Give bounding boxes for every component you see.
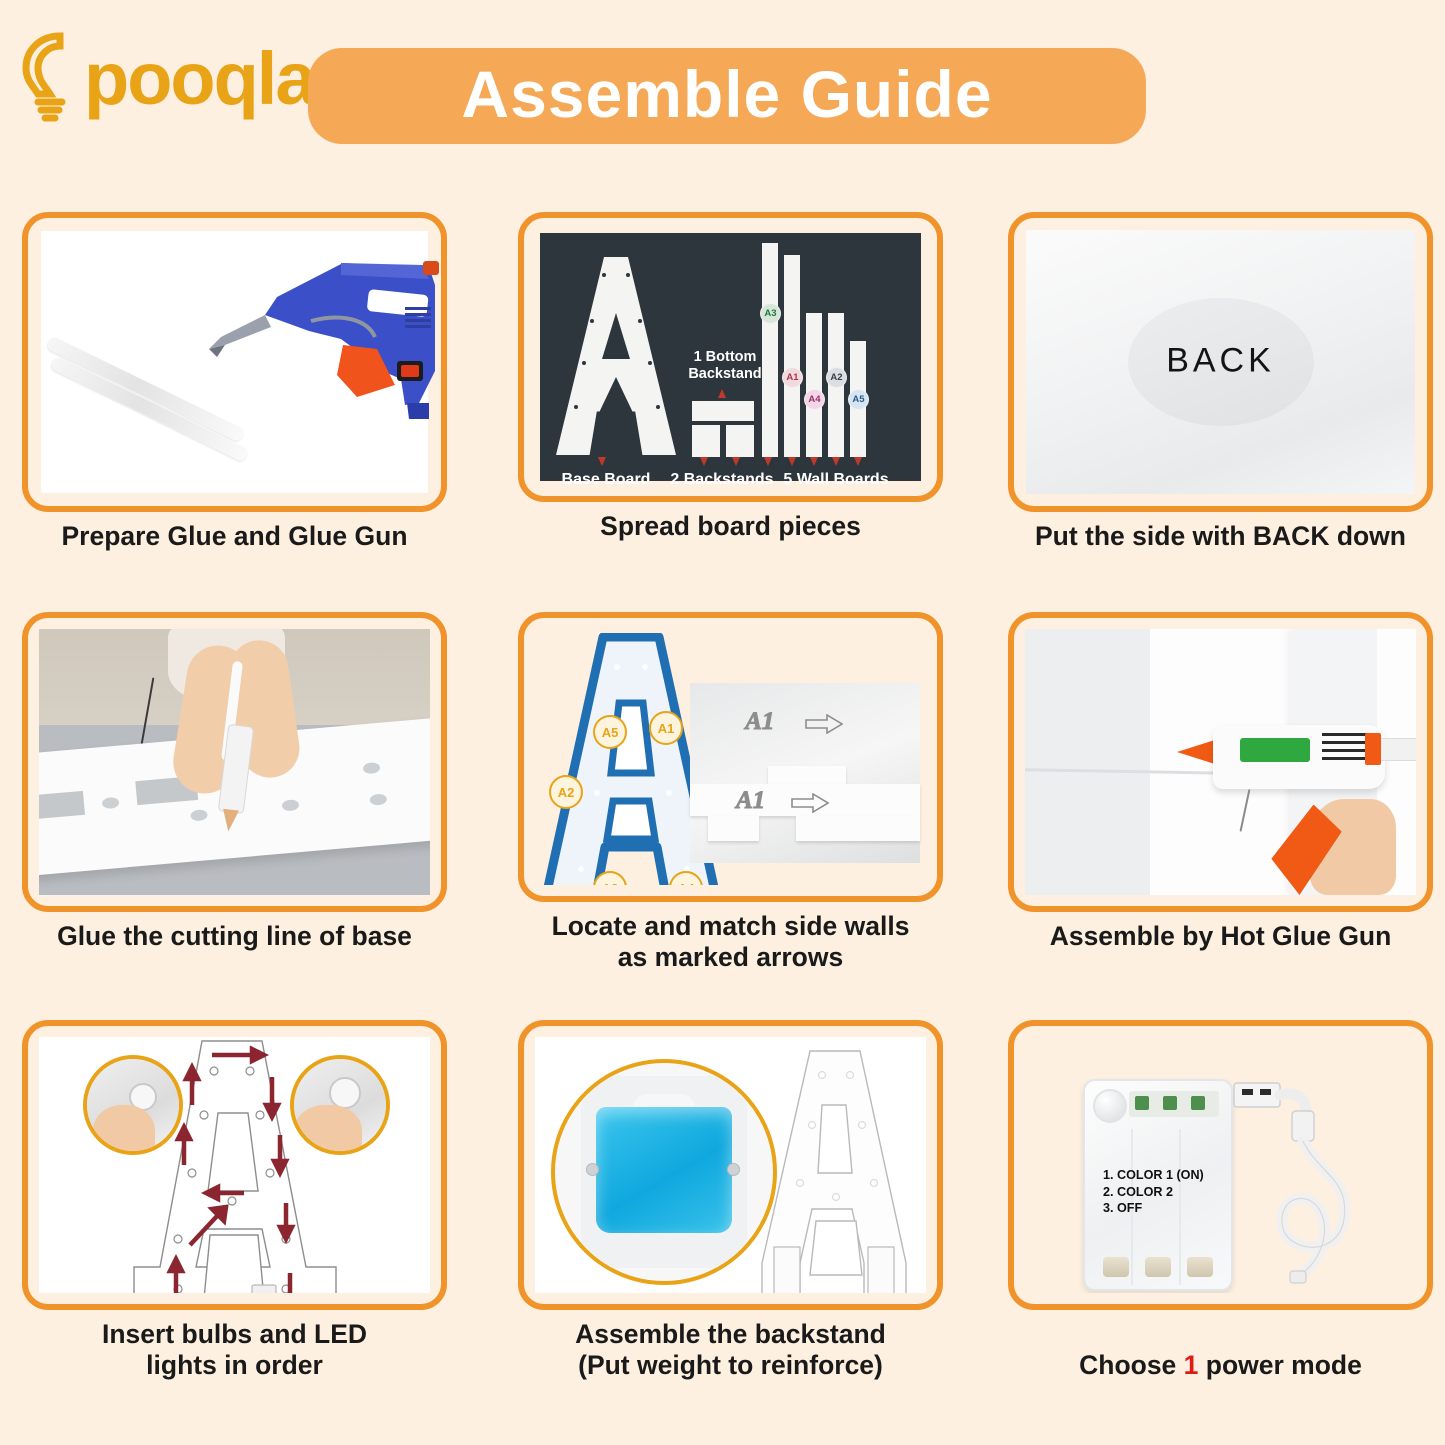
step-5-caption: Locate and match side walls as marked ar… (518, 911, 943, 974)
back-sheet: BACK (1026, 230, 1415, 494)
letter-a-backstand-outline (756, 1049, 916, 1293)
step-5-image: A5 A1 A2 A3 A4 A1 A1 (518, 612, 943, 902)
step-8-caption: Assemble the backstand (Put weight to re… (518, 1319, 943, 1382)
step-9-caption-highlight: 1 (1184, 1350, 1199, 1380)
pointer-arrow-icon (732, 457, 740, 466)
badge-a5: A5 (593, 715, 627, 749)
steps-grid: Prepare Glue and Glue Gun (0, 178, 1445, 1445)
wall-board-a1 (784, 255, 800, 457)
step-4-caption: Glue the cutting line of base (22, 921, 447, 952)
step-card-9: 1. COLOR 1 (ON) 2. COLOR 2 3. OFF (1008, 1020, 1433, 1382)
step-card-8: Assemble the backstand (Put weight to re… (518, 1020, 943, 1382)
board-pieces-diagram: A3 A1 A2 A4 A5 1 Bottom Backstand Base B… (540, 233, 921, 481)
water-bag-weight (596, 1107, 731, 1233)
pointer-arrow-icon (764, 457, 772, 466)
step-9-caption: Choose 1 power mode (1008, 1319, 1433, 1382)
step-8-image (518, 1020, 943, 1310)
brand-logo: pooqla (18, 22, 288, 134)
label-5-wall-boards: 5 Wall Boards (778, 471, 894, 489)
badge-a2: A2 (549, 775, 583, 809)
badge-a1: A1 (649, 711, 683, 745)
step-3-caption: Put the side with BACK down (1008, 521, 1433, 552)
rod-cap-icon (1365, 733, 1381, 765)
step-card-6: Assemble by Hot Glue Gun (1008, 612, 1433, 952)
backstand-shape (726, 425, 754, 457)
arrow-right-icon (791, 793, 829, 813)
side-wall-photo: A1 A1 (690, 683, 920, 863)
step-1-caption: Prepare Glue and Glue Gun (22, 521, 447, 552)
pointer-arrow-icon (700, 457, 708, 466)
blue-glue-gun-icon (191, 253, 447, 443)
battery-box-mode-label: 1. COLOR 1 (ON) 2. COLOR 2 3. OFF (1103, 1167, 1227, 1217)
pointer-arrow-icon (810, 457, 818, 466)
inset-photo-water-bag-weight (551, 1059, 777, 1285)
step-9-caption-prefix: Choose (1079, 1350, 1184, 1380)
mode-switch-knob[interactable] (1093, 1089, 1127, 1123)
step-card-2: A3 A1 A2 A4 A5 1 Bottom Backstand Base B… (518, 212, 943, 542)
page-title: Assemble Guide (461, 61, 992, 127)
page-title-banner: Assemble Guide (308, 48, 1146, 144)
usb-cable (1226, 1077, 1376, 1293)
label-bottom-backstand: 1 Bottom Backstand (680, 349, 770, 382)
badge-a2: A2 (826, 367, 847, 388)
badge-a3: A3 (760, 303, 781, 324)
glue-base-photo (39, 629, 430, 895)
back-sheet-text: BACK (1166, 342, 1275, 381)
glue-stick-icon (1377, 738, 1416, 761)
step-9-caption-suffix: power mode (1198, 1350, 1361, 1380)
step-4-image (22, 612, 447, 912)
step-6-image (1008, 612, 1433, 912)
pointer-arrow-icon (718, 389, 726, 398)
step-card-5: A5 A1 A2 A3 A4 A1 A1 (518, 612, 943, 974)
badge-a5: A5 (848, 389, 869, 410)
a1-mark-lower: A1 (736, 787, 765, 815)
page-header: pooqla Assemble Guide (0, 0, 1445, 178)
bottom-backstand-shape (692, 401, 754, 421)
a1-mark-upper: A1 (745, 708, 774, 736)
step-card-1: Prepare Glue and Glue Gun (22, 212, 447, 552)
label-base-board: Base Board (546, 471, 666, 489)
brand-wordmark: pooqla (84, 36, 315, 121)
battery-box: 1. COLOR 1 (ON) 2. COLOR 2 3. OFF (1083, 1079, 1233, 1291)
step-2-image: A3 A1 A2 A4 A5 1 Bottom Backstand Base B… (518, 212, 943, 502)
pointer-arrow-icon (788, 457, 796, 466)
base-board-shape (556, 257, 676, 455)
inset-photo-bulb-insert (83, 1055, 183, 1155)
step-3-image: BACK (1008, 212, 1433, 512)
inset-photo-bulb-screwed (290, 1055, 390, 1155)
step-7-caption: Insert bulbs and LED lights in order (22, 1319, 447, 1382)
pointer-arrow-icon (598, 457, 606, 466)
step-1-image (22, 212, 447, 512)
badge-a1: A1 (782, 367, 803, 388)
brand-sticker (1240, 738, 1310, 762)
hot-glue-gun-photo (1025, 629, 1416, 895)
badge-a4: A4 (804, 389, 825, 410)
step-6-caption: Assemble by Hot Glue Gun (1008, 921, 1433, 952)
label-2-backstands: 2 Backstands (664, 471, 780, 489)
step-7-image (22, 1020, 447, 1310)
vent-slots-icon (1322, 733, 1369, 765)
step-card-7: Insert bulbs and LED lights in order (22, 1020, 447, 1382)
step-9-image: 1. COLOR 1 (ON) 2. COLOR 2 3. OFF (1008, 1020, 1433, 1310)
backstand-shape (692, 425, 720, 457)
pointer-arrow-icon (832, 457, 840, 466)
step-card-4: Glue the cutting line of base (22, 612, 447, 952)
step-card-3: BACK Put the side with BACK down (1008, 212, 1433, 552)
step-2-caption: Spread board pieces (518, 511, 943, 542)
wall-board-a4 (806, 313, 822, 457)
pointer-arrow-icon (854, 457, 862, 466)
arrow-right-icon (805, 714, 843, 734)
